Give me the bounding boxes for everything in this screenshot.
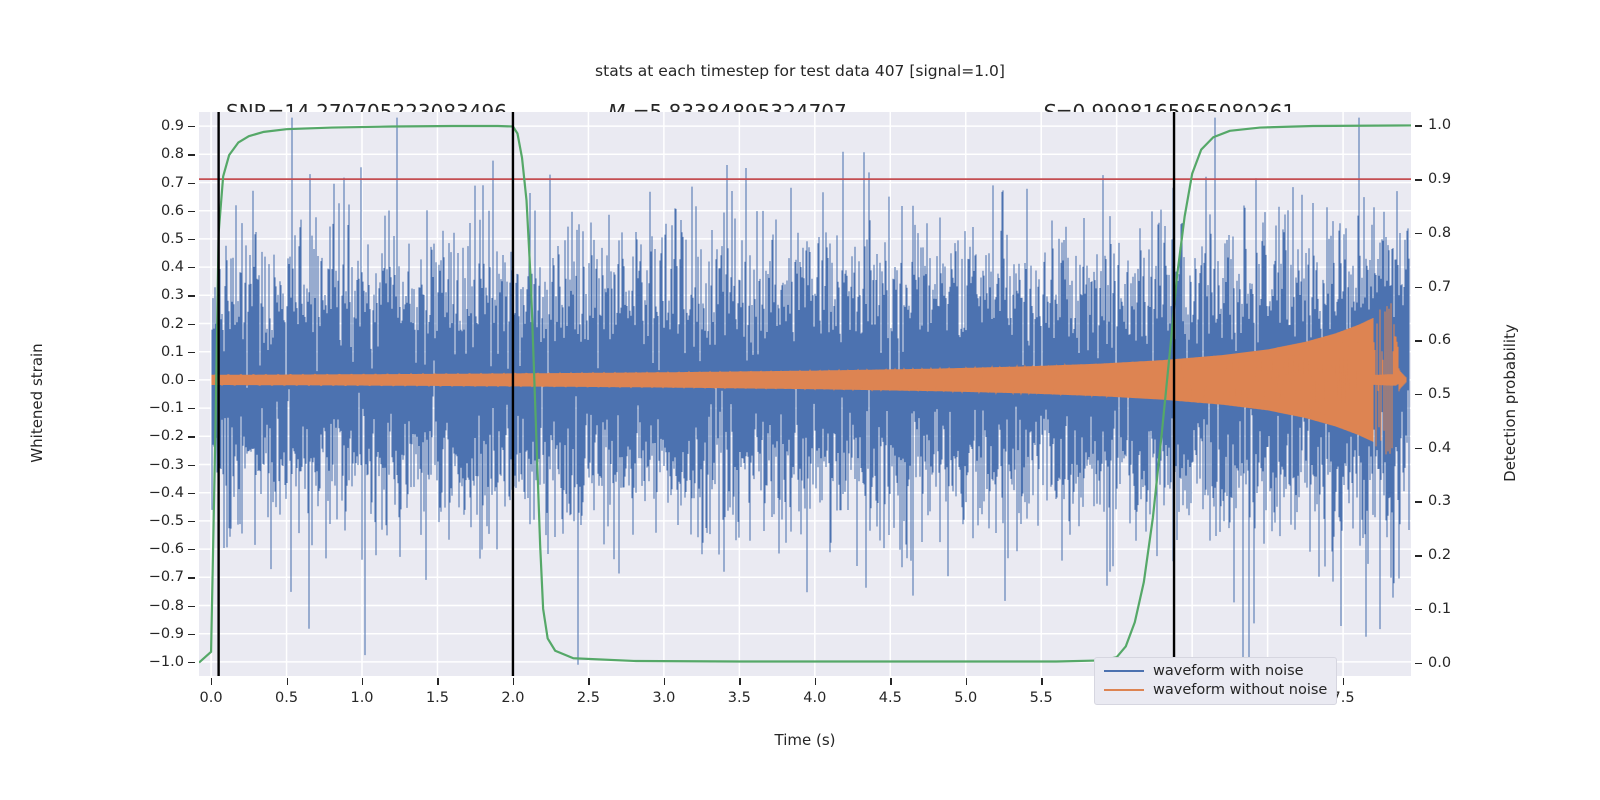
y-tick-label-left: 0.0 — [161, 372, 184, 388]
y-axis-right-ticklabels: 1.00.90.80.70.60.50.40.30.20.10.0 — [1428, 112, 1472, 676]
y-tick-label-right: 0.3 — [1428, 493, 1451, 509]
y-tick-label-left: 0.2 — [161, 316, 184, 332]
x-axis-title: Time (s) — [199, 731, 1411, 749]
tick-mark — [1415, 394, 1422, 395]
y-tick-label-right: 0.0 — [1428, 655, 1451, 671]
tick-mark — [739, 678, 740, 685]
y-tick-label-left: 0.9 — [161, 118, 184, 134]
tick-mark — [188, 295, 195, 296]
tick-mark — [1415, 233, 1422, 234]
tick-mark — [1415, 340, 1422, 341]
plot-area — [199, 112, 1411, 676]
tick-mark — [1343, 678, 1344, 685]
tick-mark — [188, 465, 195, 466]
tick-mark — [188, 267, 195, 268]
x-tick-label: 0.0 — [200, 690, 223, 706]
y-tick-label-left: −0.7 — [149, 569, 184, 585]
tick-mark — [664, 678, 665, 685]
tick-mark — [1041, 678, 1042, 685]
y-tick-label-right: 1.0 — [1428, 117, 1451, 133]
y-axis-left-ticklabels: 0.90.80.70.60.50.40.30.20.10.0−0.1−0.2−0… — [140, 112, 184, 676]
tick-mark — [1415, 287, 1422, 288]
y-tick-label-left: −0.6 — [149, 541, 184, 557]
y-tick-label-right: 0.8 — [1428, 225, 1451, 241]
y-tick-label-left: 0.7 — [161, 175, 184, 191]
tick-mark — [188, 549, 195, 550]
y-tick-label-left: −0.4 — [149, 485, 184, 501]
y-tick-label-right: 0.6 — [1428, 332, 1451, 348]
overlay-layer — [199, 112, 1411, 676]
tick-mark — [188, 352, 195, 353]
tick-mark — [890, 678, 891, 685]
tick-mark — [437, 678, 438, 685]
y-tick-label-left: −0.1 — [149, 400, 184, 416]
tick-mark — [1415, 501, 1422, 502]
tick-mark — [287, 678, 288, 685]
x-tick-label: 4.0 — [803, 690, 826, 706]
legend-label-waveform-without-noise: waveform without noise — [1153, 682, 1327, 698]
y-tick-label-left: −0.8 — [149, 598, 184, 614]
tick-mark — [188, 662, 195, 663]
y-tick-label-left: 0.3 — [161, 287, 184, 303]
chart-title: stats at each timestep for test data 407… — [0, 62, 1600, 80]
y-tick-label-left: 0.1 — [161, 344, 184, 360]
tick-mark — [188, 183, 195, 184]
tick-mark — [966, 678, 967, 685]
tick-mark — [1415, 555, 1422, 556]
x-tick-label: 3.0 — [652, 690, 675, 706]
y-tick-label-left: 0.4 — [161, 259, 184, 275]
legend-swatch-orange — [1104, 689, 1144, 691]
tick-mark — [513, 678, 514, 685]
y-axis-left-title: Whitened strain — [28, 253, 46, 553]
y-tick-label-right: 0.7 — [1428, 279, 1451, 295]
tick-mark — [188, 436, 195, 437]
y-axis-right-title: Detection probability — [1501, 253, 1519, 553]
y-tick-label-right: 0.1 — [1428, 601, 1451, 617]
x-tick-label: 2.0 — [501, 690, 524, 706]
tick-mark — [188, 239, 195, 240]
tick-mark — [588, 678, 589, 685]
tick-mark — [188, 634, 195, 635]
y-tick-label-left: −0.3 — [149, 457, 184, 473]
tick-mark — [1415, 609, 1422, 610]
y-tick-label-left: −0.9 — [149, 626, 184, 642]
legend: waveform with noise waveform without noi… — [1094, 657, 1337, 705]
y-tick-label-left: 0.8 — [161, 146, 184, 162]
x-tick-label: 5.5 — [1030, 690, 1053, 706]
tick-mark — [188, 606, 195, 607]
y-tick-label-left: −1.0 — [149, 654, 184, 670]
tick-mark — [188, 324, 195, 325]
legend-label-waveform-with-noise: waveform with noise — [1153, 663, 1304, 679]
y-tick-label-left: 0.6 — [161, 203, 184, 219]
y-tick-label-right: 0.9 — [1428, 171, 1451, 187]
y-tick-label-left: −0.2 — [149, 428, 184, 444]
x-tick-label: 3.5 — [728, 690, 751, 706]
y-tick-label-right: 0.5 — [1428, 386, 1451, 402]
tick-mark — [1415, 179, 1422, 180]
x-tick-label: 2.5 — [577, 690, 600, 706]
tick-mark — [188, 577, 195, 578]
x-tick-label: 1.5 — [426, 690, 449, 706]
tick-mark — [188, 521, 195, 522]
legend-item-waveform-with-noise[interactable]: waveform with noise — [1104, 663, 1327, 679]
tick-mark — [1415, 663, 1422, 664]
y-tick-label-right: 0.2 — [1428, 547, 1451, 563]
tick-mark — [188, 126, 195, 127]
x-tick-label: 4.5 — [879, 690, 902, 706]
x-tick-label: 0.5 — [275, 690, 298, 706]
tick-mark — [211, 678, 212, 685]
tick-mark — [188, 408, 195, 409]
series-detection-probability — [199, 125, 1411, 662]
tick-mark — [188, 493, 195, 494]
figure-canvas: stats at each timestep for test data 407… — [0, 0, 1600, 800]
tick-mark — [188, 211, 195, 212]
x-tick-label: 5.0 — [954, 690, 977, 706]
tick-mark — [188, 380, 195, 381]
y-tick-label-left: −0.5 — [149, 513, 184, 529]
legend-swatch-blue — [1104, 670, 1144, 672]
y-tick-label-right: 0.4 — [1428, 440, 1451, 456]
y-tick-label-left: 0.5 — [161, 231, 184, 247]
tick-mark — [362, 678, 363, 685]
tick-mark — [815, 678, 816, 685]
tick-mark — [188, 154, 195, 155]
tick-mark — [1415, 448, 1422, 449]
tick-mark — [1415, 125, 1422, 126]
legend-item-waveform-without-noise[interactable]: waveform without noise — [1104, 682, 1327, 698]
x-tick-label: 1.0 — [350, 690, 373, 706]
